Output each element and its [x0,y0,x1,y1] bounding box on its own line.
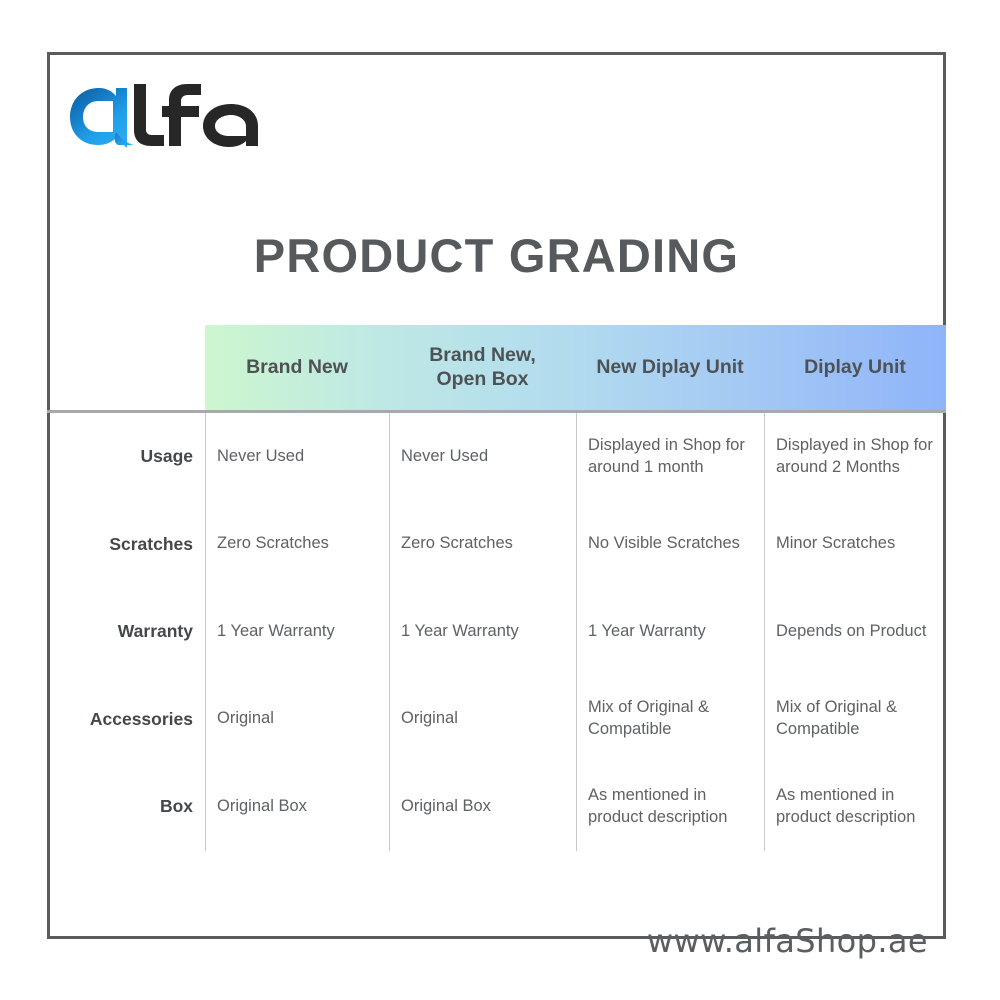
row-label-accessories: Accessories [47,676,205,764]
website-url: www.alfaShop.ae [647,922,928,960]
logo-letter-a-blue [70,88,134,148]
alfa-logo-svg [68,82,268,154]
table-cell: Depends on Product [764,588,946,676]
table-row: Accessories Original Original Mix of Ori… [47,676,946,764]
row-label-scratches: Scratches [47,501,205,589]
table-cell: Zero Scratches [389,501,576,589]
table-row: Scratches Zero Scratches Zero Scratches … [47,501,946,589]
column-header-brand-new: Brand New [205,325,389,410]
table-body: Usage Never Used Never Used Displayed in… [47,413,946,841]
table-cell: 1 Year Warranty [576,588,764,676]
column-header-new-display-unit: New Diplay Unit [576,325,764,410]
page-title: PRODUCT GRADING [47,228,946,283]
table-cell: 1 Year Warranty [389,588,576,676]
table-cell: As mentioned in product description [576,763,764,851]
table-cell: 1 Year Warranty [205,588,389,676]
table-row: Box Original Box Original Box As mention… [47,763,946,851]
row-label-warranty: Warranty [47,588,205,676]
logo-letter-a-dark [203,104,258,147]
table-cell: No Visible Scratches [576,501,764,589]
table-cell: Minor Scratches [764,501,946,589]
row-label-box: Box [47,763,205,851]
table-cell: Original Box [205,763,389,851]
column-header-display-unit: Diplay Unit [764,325,946,410]
table-cell: Original [389,676,576,764]
table-cell: Never Used [389,413,576,501]
table-cell: Zero Scratches [205,501,389,589]
table-row: Usage Never Used Never Used Displayed in… [47,413,946,501]
logo-letter-l-dark [134,84,164,146]
table-row: Warranty 1 Year Warranty 1 Year Warranty… [47,588,946,676]
table-cell: Displayed in Shop for around 1 month [576,413,764,501]
table-cell: As mentioned in product description [764,763,946,851]
column-header-label: New Diplay Unit [596,356,743,380]
table-header-row: Brand New Brand New, Open Box New Diplay… [205,325,946,410]
column-header-label: Brand New, Open Box [429,344,536,392]
infographic-canvas: PRODUCT GRADING Brand New Brand New, Ope… [0,0,1000,1000]
table-cell: Mix of Original & Compatible [576,676,764,764]
table-cell: Displayed in Shop for around 2 Months [764,413,946,501]
table-cell: Never Used [205,413,389,501]
column-header-label: Brand New [246,356,348,380]
row-label-usage: Usage [47,413,205,501]
table-cell: Original [205,676,389,764]
table-cell: Original Box [389,763,576,851]
column-header-label: Diplay Unit [804,356,906,380]
table-cell: Mix of Original & Compatible [764,676,946,764]
logo-letter-f-dark [162,84,201,146]
column-header-brand-new-open-box: Brand New, Open Box [389,325,576,410]
alfa-logo [68,82,268,154]
